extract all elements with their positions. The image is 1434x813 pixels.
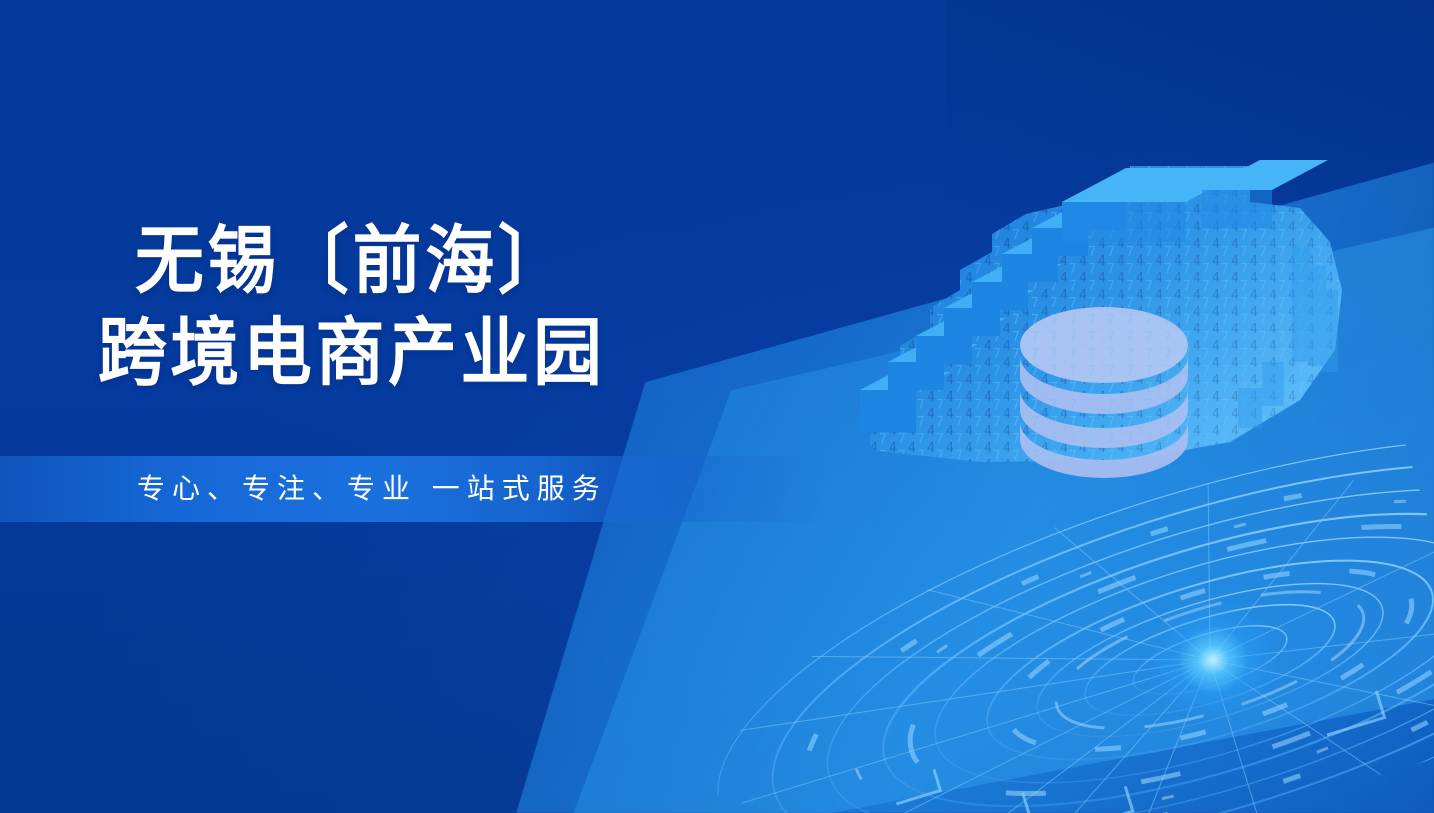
promo-banner: 4 7	[0, 0, 1434, 813]
voxel-cloud: 4 7	[830, 150, 1390, 480]
subtitle-text: 专心、专注、专业 一站式服务	[137, 460, 607, 518]
database-disc-stack	[1015, 305, 1195, 478]
title-line-1: 无锡〔前海〕	[96, 215, 606, 307]
title-line-2: 跨境电商产业园	[96, 307, 606, 399]
headline-block: 无锡〔前海〕 跨境电商产业园	[96, 215, 644, 399]
